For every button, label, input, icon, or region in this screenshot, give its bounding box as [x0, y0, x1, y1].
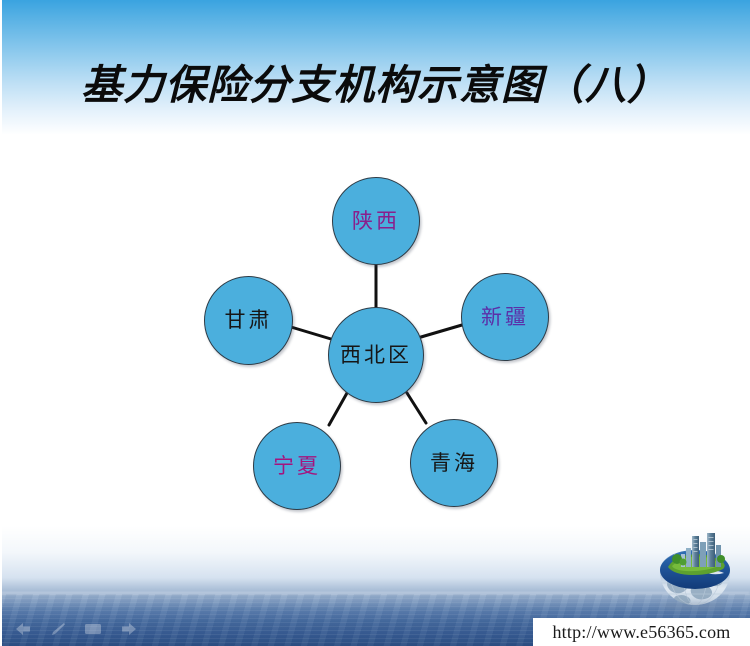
org-chart-diagram: 陕西 甘肃 新疆 西北区 宁夏 青海	[0, 0, 750, 646]
node-ningxia[interactable]: 宁夏	[253, 422, 341, 510]
slide-menu-icon[interactable]	[84, 622, 102, 636]
node-qinghai[interactable]: 青海	[410, 419, 498, 507]
node-center-northwest-region[interactable]: 西北区	[328, 307, 424, 403]
edge-center-ningxia	[329, 393, 347, 425]
node-qinghai-label: 青海	[430, 453, 478, 474]
logo-shadow	[660, 602, 726, 610]
node-xinjiang[interactable]: 新疆	[461, 273, 549, 361]
node-shaanxi-label: 陕西	[352, 211, 400, 232]
node-gansu[interactable]: 甘肃	[204, 276, 293, 365]
previous-slide-icon[interactable]	[14, 622, 32, 636]
slideshow-nav-controls[interactable]	[14, 622, 138, 636]
pen-tool-icon[interactable]	[50, 622, 66, 636]
watermark-url: http://www.e56365.com	[552, 622, 730, 643]
edge-center-xinjiang	[421, 325, 462, 337]
node-gansu-label: 甘肃	[225, 310, 273, 331]
next-slide-icon[interactable]	[120, 622, 138, 636]
node-center-label: 西北区	[340, 345, 412, 366]
edge-center-gansu	[291, 327, 331, 339]
edge-center-qinghai	[407, 393, 426, 423]
node-ningxia-label: 宁夏	[273, 456, 321, 477]
node-shaanxi[interactable]: 陕西	[332, 177, 420, 265]
node-xinjiang-label: 新疆	[481, 307, 529, 328]
presentation-slide: 基力保险分支机构示意图（八） 陕西 甘肃	[0, 0, 750, 646]
globe-city-logo	[648, 528, 742, 616]
watermark-url-bar: http://www.e56365.com	[533, 618, 750, 646]
